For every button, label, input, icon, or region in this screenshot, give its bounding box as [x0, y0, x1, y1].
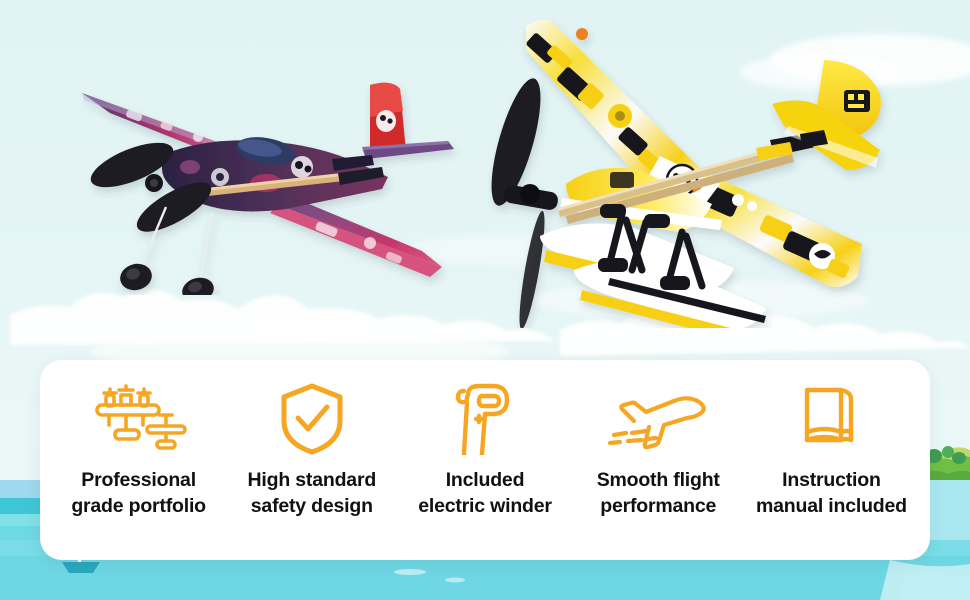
feature-label: Included electric winder [418, 468, 552, 519]
model-plane-yellow-seaplane [470, 8, 930, 328]
feature-item-included-electric-winder: Included electric winder [398, 382, 571, 519]
manual-book-icon [799, 382, 863, 454]
feature-item-instruction-manual-included: Instruction manual included [745, 382, 918, 519]
feature-label: Instruction manual included [756, 468, 907, 519]
two-model-planes-icon [91, 382, 187, 454]
feature-label: Smooth flight performance [597, 468, 720, 519]
electric-winder-icon [454, 382, 516, 454]
model-plane-purple-red [70, 55, 470, 295]
propeller-yellow-plane [481, 74, 559, 328]
feature-item-professional-grade-portfolio: Professional grade portfolio [52, 382, 225, 519]
feature-item-smooth-flight-performance: Smooth flight performance [572, 382, 745, 519]
feature-card: Professional grade portfolio High standa… [40, 360, 930, 560]
feature-label: High standard safety design [248, 468, 377, 519]
feature-item-high-standard-safety-design: High standard safety design [225, 382, 398, 519]
airplane-takeoff-icon [604, 382, 712, 454]
banner-stage: Professional grade portfolio High standa… [0, 0, 970, 600]
graffiti-upper-wing [525, 28, 662, 173]
feature-label: Professional grade portfolio [71, 468, 206, 519]
shield-check-icon [276, 382, 348, 454]
